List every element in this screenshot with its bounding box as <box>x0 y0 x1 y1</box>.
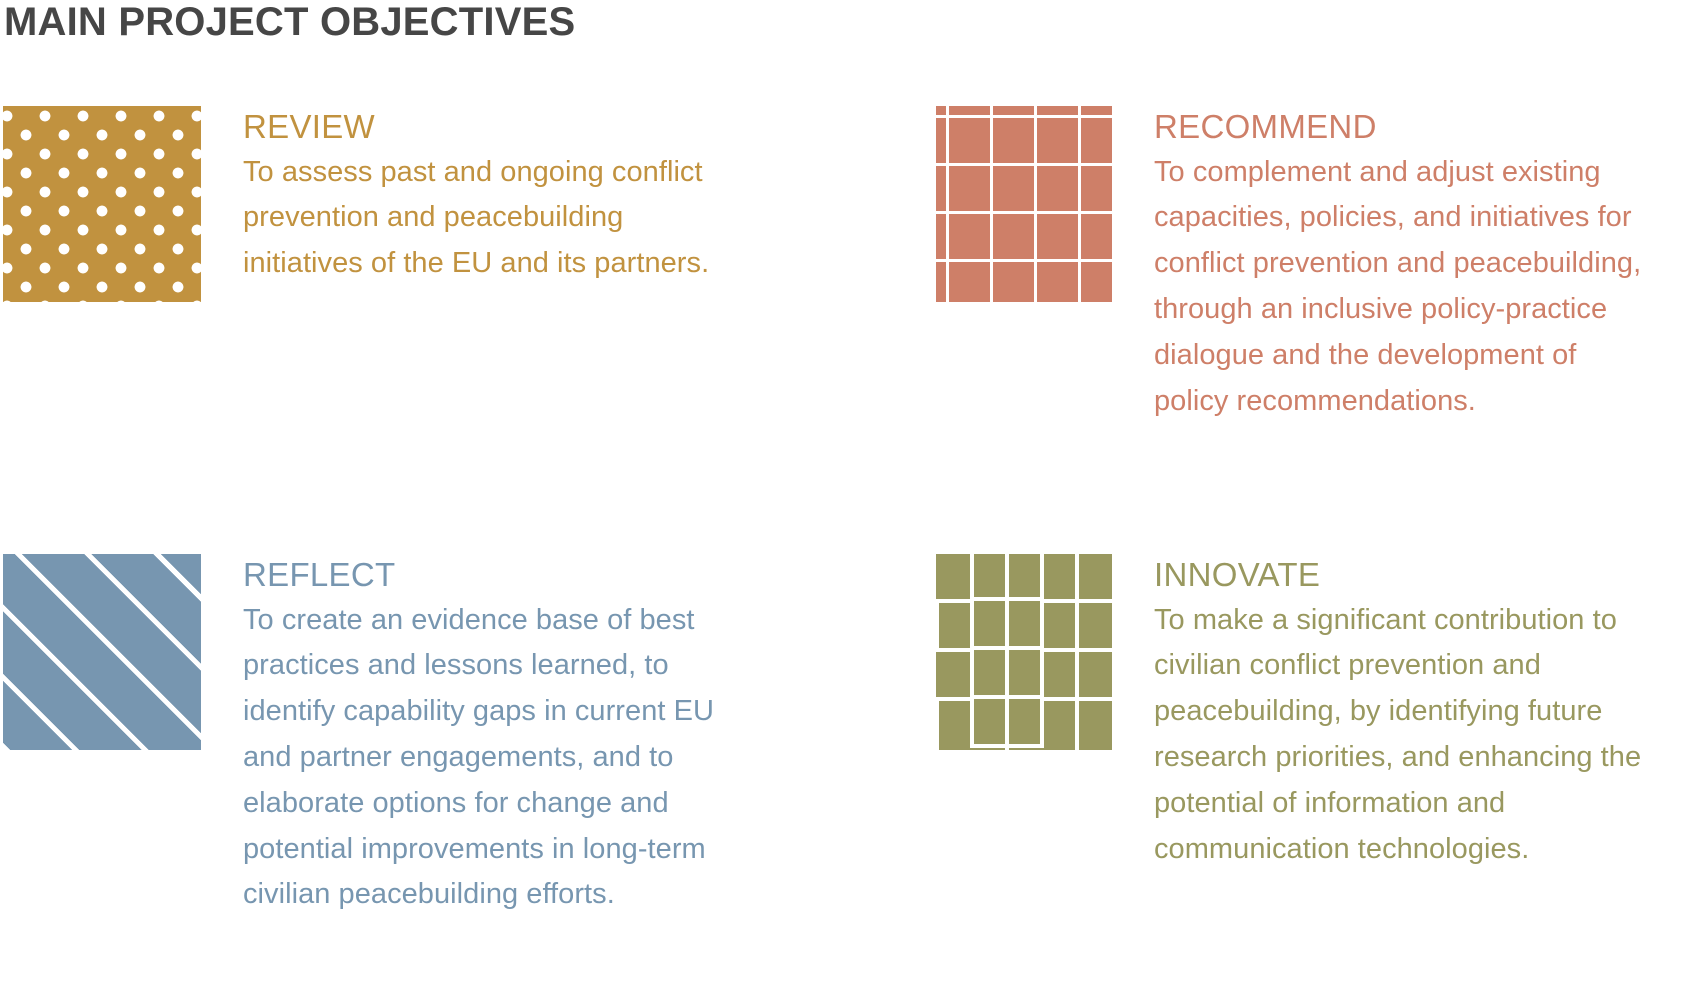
objective-heading-innovate: INNOVATE <box>1154 555 1652 595</box>
objective-body-recommend: To complement and adjust existing capaci… <box>1154 150 1652 425</box>
objective-heading-review: REVIEW <box>243 107 721 147</box>
objective-text-innovate: INNOVATE To make a significant contribut… <box>1112 554 1652 872</box>
objective-text-review: REVIEW To assess past and ongoing confli… <box>201 106 721 287</box>
objective-body-review: To assess past and ongoing conflict prev… <box>243 150 721 287</box>
objective-body-innovate: To make a significant contribution to ci… <box>1154 598 1652 873</box>
objective-card-innovate: INNOVATE To make a significant contribut… <box>936 554 1696 872</box>
diagonal-stripes-swatch-icon <box>3 554 201 750</box>
zigzag-steps-swatch-icon <box>936 554 1112 750</box>
objective-text-recommend: RECOMMEND To complement and adjust exist… <box>1112 106 1652 424</box>
objective-text-reflect: REFLECT To create an evidence base of be… <box>201 554 721 918</box>
objective-body-reflect: To create an evidence base of best pract… <box>243 598 721 919</box>
objective-card-review: REVIEW To assess past and ongoing confli… <box>3 106 793 302</box>
objective-card-reflect: REFLECT To create an evidence base of be… <box>3 554 793 918</box>
objective-heading-reflect: REFLECT <box>243 555 721 595</box>
polka-dots-swatch-icon <box>3 106 201 302</box>
objectives-infographic: MAIN PROJECT OBJECTIVES REVIEW To assess… <box>0 0 1696 992</box>
page-title: MAIN PROJECT OBJECTIVES <box>4 0 575 47</box>
plus-signs-swatch-icon <box>936 106 1112 302</box>
objective-heading-recommend: RECOMMEND <box>1154 107 1652 147</box>
objective-card-recommend: RECOMMEND To complement and adjust exist… <box>936 106 1696 424</box>
